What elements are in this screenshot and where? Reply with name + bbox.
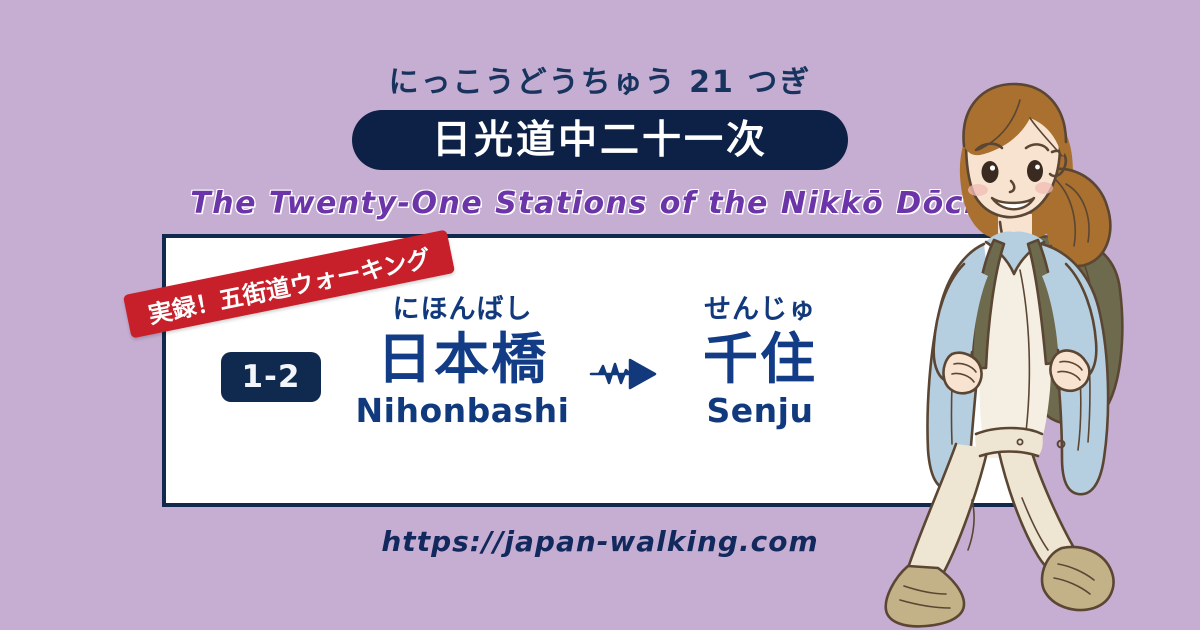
station-destination: せんじゅ 千住 Senju bbox=[655, 296, 865, 427]
zigzag-arrow-right-icon bbox=[589, 356, 659, 392]
station-destination-kanji: 千住 bbox=[655, 330, 865, 388]
banner-canvas: にっこうどうちゅう 21 つぎ 日光道中二十一次 The Twenty-One … bbox=[0, 0, 1200, 630]
station-origin-romaji: Nihonbashi bbox=[330, 394, 595, 427]
title-pill: 日光道中二十一次 bbox=[352, 110, 848, 170]
leg-number-badge: 1-2 bbox=[221, 352, 321, 402]
page-title: 日光道中二十一次 bbox=[432, 121, 768, 160]
station-destination-romaji: Senju bbox=[655, 394, 865, 427]
station-origin: にほんばし 日本橋 Nihonbashi bbox=[330, 296, 595, 427]
leg-number-label: 1-2 bbox=[241, 362, 300, 393]
station-origin-kanji: 日本橋 bbox=[330, 330, 595, 388]
walking-woman-illustration: .ln { stroke:#5b4634; stroke-width:2.6; … bbox=[880, 38, 1200, 630]
station-destination-yomi: せんじゅ bbox=[655, 296, 865, 323]
station-origin-yomi: にほんばし bbox=[330, 296, 595, 323]
